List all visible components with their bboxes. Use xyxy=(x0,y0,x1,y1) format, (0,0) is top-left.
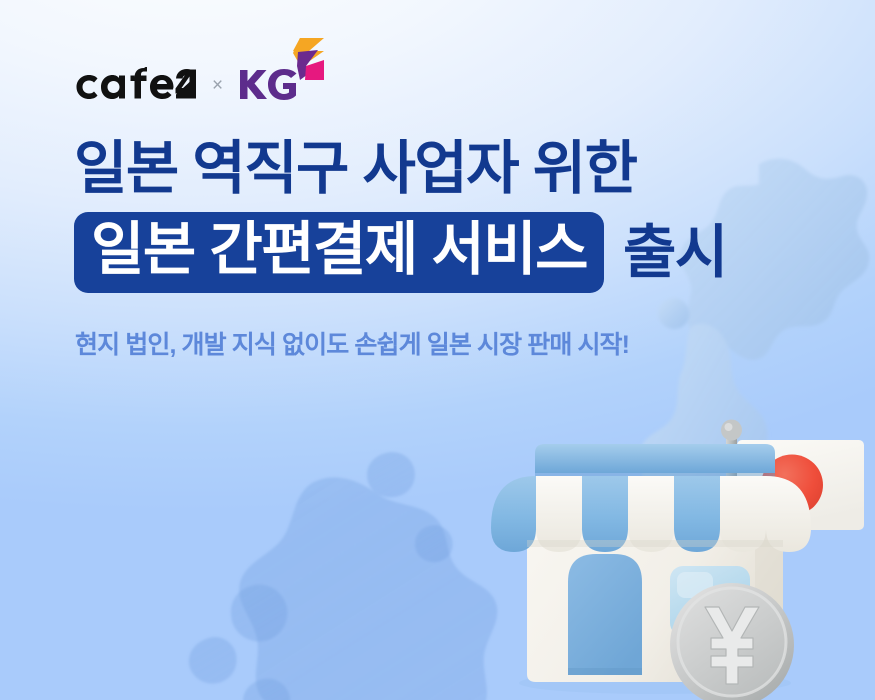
subtitle: 현지 법인, 개발 지식 없이도 손쉽게 일본 시장 판매 시작! xyxy=(75,330,629,361)
headline-line-2: 일본 간편결제 서비스 출시 xyxy=(74,212,834,293)
world-map-silhouette xyxy=(0,395,520,700)
yen-coin-icon xyxy=(670,583,794,700)
headline-tail: 출시 xyxy=(623,224,727,282)
kg-chevron-mark-icon xyxy=(291,37,325,81)
cafe24-logo xyxy=(74,67,196,101)
storefront-illustration xyxy=(455,400,875,700)
promo-banner: × 일본 역직구 사업자 위한 일본 간편결제 xyxy=(0,0,875,700)
headline-line-1: 일본 역직구 사업자 위한 xyxy=(74,140,834,198)
japan-flag-icon xyxy=(721,420,864,677)
headline-block: 일본 역직구 사업자 위한 일본 간편결제 서비스 출시 xyxy=(74,140,834,293)
separator-x-icon: × xyxy=(212,76,223,95)
storefront-icon xyxy=(491,444,811,682)
kg-logo xyxy=(237,67,299,101)
kg-wordmark xyxy=(237,67,299,101)
store-door xyxy=(568,554,642,675)
headline-highlight-chip: 일본 간편결제 서비스 xyxy=(74,212,604,293)
store-window xyxy=(670,566,750,636)
brand-lockup: × xyxy=(74,58,299,110)
